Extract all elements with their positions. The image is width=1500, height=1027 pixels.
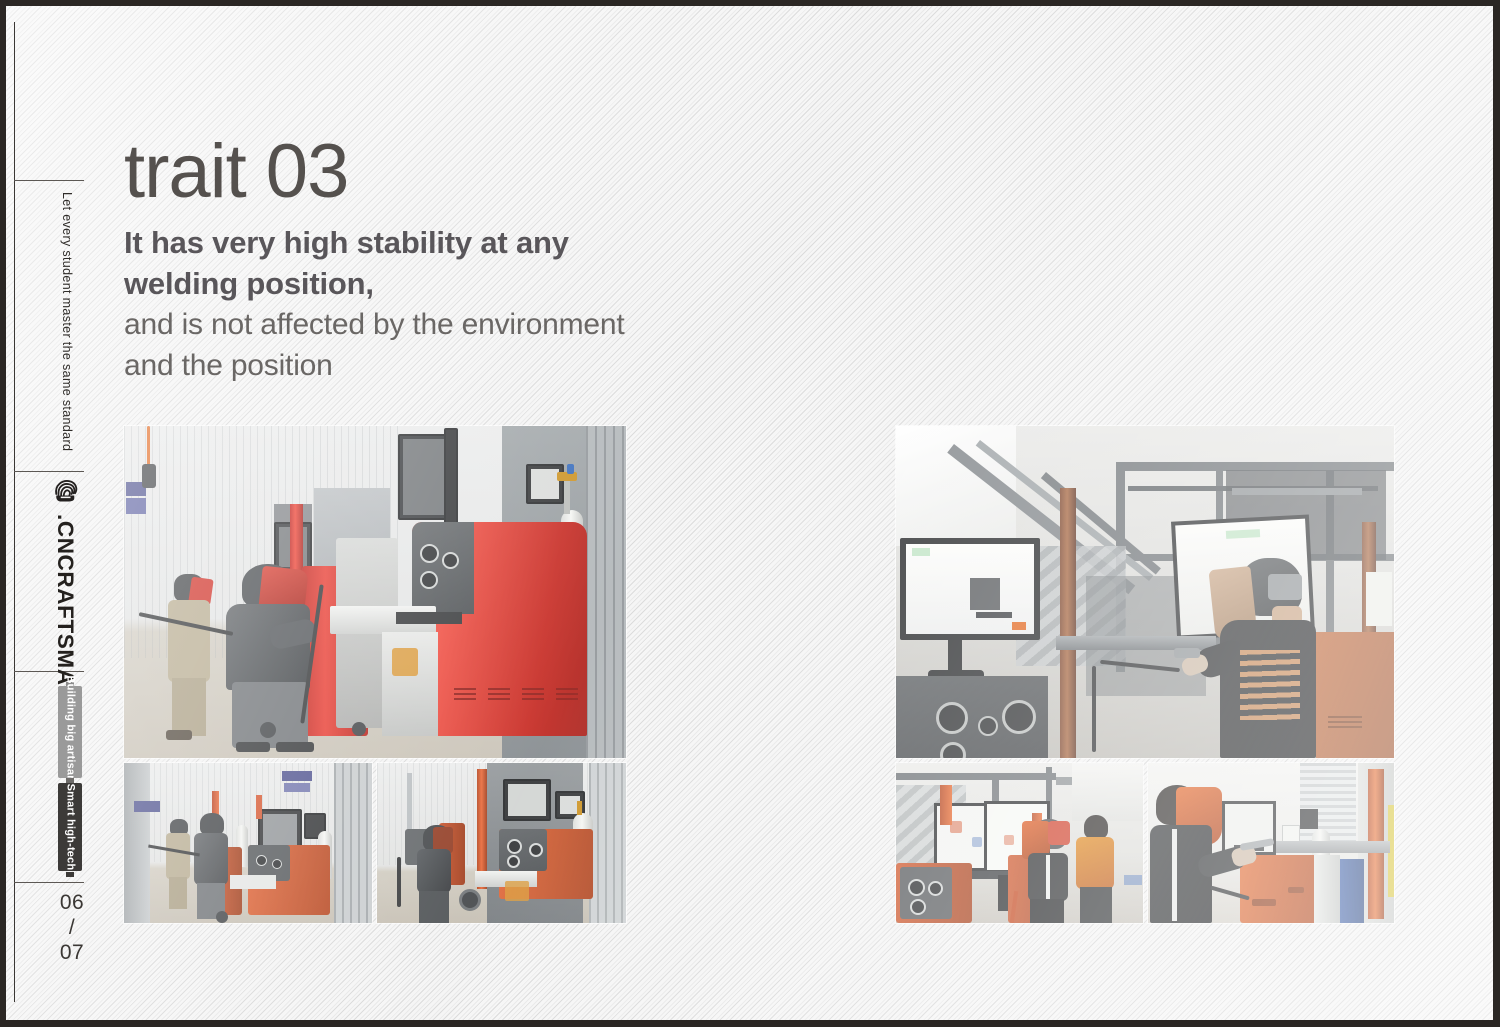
page-number: 06 / 07 [52,890,92,965]
swirl-spiral-logo-icon [51,476,81,506]
page-title: trait 03 [124,132,744,212]
photo-left-thumb-1 [124,763,372,923]
page-number-current: 06 [52,890,92,915]
rail-divider-mid [14,471,84,472]
badge-smart-high-tech: Smart high-tech [58,783,82,871]
subtitle-bold: It has very high stability at any weldin… [124,222,624,304]
badge-artisans-label: Building big artisans [64,676,76,789]
badge-building-big-artisans: Building big artisans [58,686,82,778]
badge-notch-bottom [66,872,74,877]
badge-smart-label: Smart high-tech [64,784,76,871]
rail-tagline: Let every student master the same standa… [60,192,74,451]
subtitle-light: and is not affected by the environment a… [124,304,644,386]
photo-right-thumb-2 [1148,763,1394,923]
headline-block: trait 03 It has very high stability at a… [124,132,744,386]
rail-divider-bottom [14,882,84,883]
photo-left-main [124,426,626,758]
rail-vertical-line [14,22,15,1002]
photo-right-main [896,426,1394,758]
page-number-separator: / [52,915,92,940]
photo-right-thumb-1 [896,763,1143,923]
rail-divider-top [14,180,84,181]
page-number-total: 07 [52,940,92,965]
photo-left-thumb-2 [377,763,626,923]
brand-name: .CNCRAFTSMAN [52,514,78,702]
left-rail: Let every student master the same standa… [6,6,114,1020]
brochure-page: Let every student master the same standa… [6,6,1493,1020]
